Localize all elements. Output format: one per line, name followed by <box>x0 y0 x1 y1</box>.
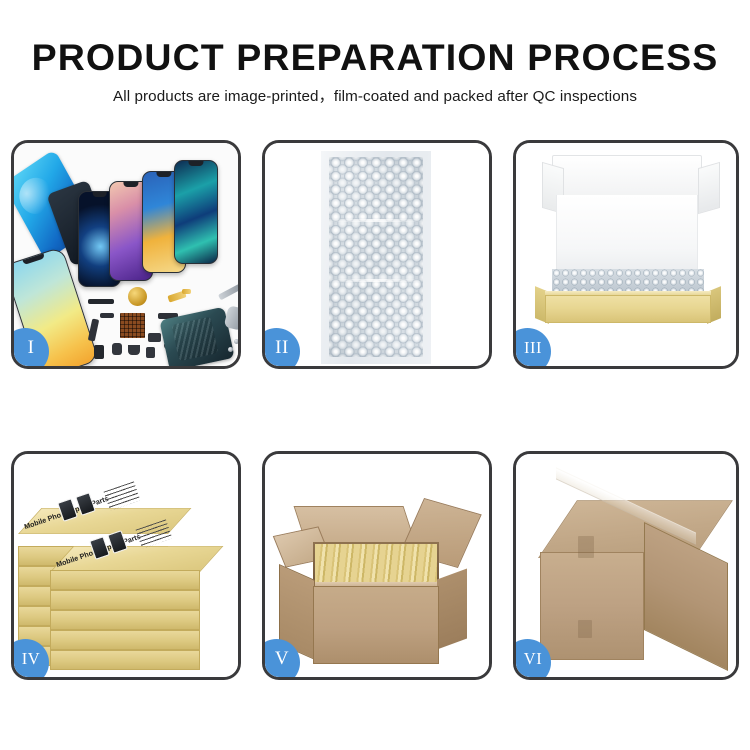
stacked-box <box>50 630 200 650</box>
stacked-box <box>50 610 200 630</box>
stacked-box <box>50 650 200 670</box>
phone-parts-image <box>14 143 238 366</box>
process-step-panel-2[interactable]: II <box>262 140 492 369</box>
process-step-panel-3[interactable]: III <box>513 140 739 369</box>
white-box-interior <box>556 195 698 271</box>
box-label-spec-lines <box>104 481 141 510</box>
white-box-lid-right <box>698 162 720 214</box>
process-step-panel-6[interactable]: VI <box>513 451 739 680</box>
sealed-carton-front-face <box>540 552 644 660</box>
tape-tab-lower <box>578 620 592 638</box>
bubble-wrap-image <box>265 143 489 366</box>
process-step-panel-5[interactable]: V <box>262 451 492 680</box>
carton-side-right <box>437 569 467 650</box>
wrap-seam-bottom <box>329 279 423 282</box>
sealed-carton-image <box>516 454 736 677</box>
phone-screen-teal-icon <box>174 160 218 264</box>
bubble-wrap-pack-icon <box>329 157 423 357</box>
stacked-box <box>50 590 200 610</box>
kraft-tray-front <box>545 295 711 323</box>
spare-parts-cluster <box>86 283 238 366</box>
bubble-grid-offset-icon <box>329 157 423 357</box>
inner-box-image <box>516 143 736 366</box>
open-carton-image <box>265 454 489 677</box>
process-step-grid: I II III <box>0 0 750 750</box>
stacked-box <box>50 570 200 590</box>
wrap-seam-top <box>329 219 423 222</box>
stacked-boxes-image: Mobile Phone Spare Parts Mobile Phone Sp… <box>14 454 238 677</box>
process-step-panel-4[interactable]: Mobile Phone Spare Parts Mobile Phone Sp… <box>11 451 241 680</box>
carton-front-face <box>313 586 439 664</box>
box-stack: Mobile Phone Spare Parts Mobile Phone Sp… <box>14 454 238 677</box>
sealed-carton-right-face <box>644 522 728 671</box>
process-step-panel-1[interactable]: I <box>11 140 241 369</box>
tape-tab-upper <box>578 536 594 558</box>
